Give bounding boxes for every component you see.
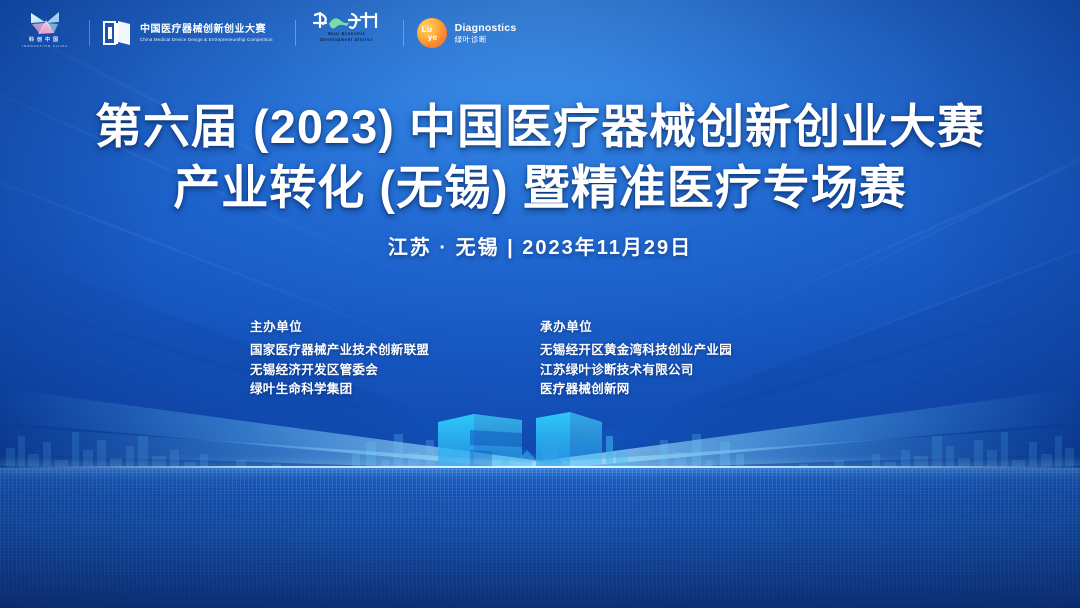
poster-title-block: 第六届 (2023) 中国医疗器械创新创业大赛 产业转化 (无锡) 暨精准医疗专… [0, 96, 1080, 261]
organizers-block: 主办单位 国家医疗器械产业技术创新联盟 无锡经济开发区管委会 绿叶生命科学集团 … [0, 318, 1080, 400]
logo-luye-diagnostics: Lu ye Diagnostics 绿叶诊断 [417, 10, 517, 56]
background-horizon-line [0, 466, 1080, 468]
innovation-china-butterfly-icon [28, 10, 62, 36]
title-line-1: 第六届 (2023) 中国医疗器械创新创业大赛 [0, 96, 1080, 157]
event-location-date: 江苏 · 无锡 | 2023年11月29日 [0, 235, 1080, 261]
host-organizers-heading: 主办单位 [250, 318, 540, 337]
background-ground-grid [0, 467, 1080, 608]
logo-cmdc-cn: 中国医疗器械创新创业大赛 [140, 24, 273, 36]
cohost-organizers-heading: 承办单位 [540, 318, 830, 337]
logo-innovation-china-cn: 科创中国 [29, 37, 61, 43]
logo-cmdc: 中国医疗器械创新创业大赛 China Medical Device Design… [103, 10, 273, 56]
wuxi-calligraphy-icon [311, 10, 383, 30]
logo-innovation-china: 科创中国 INNOVATION CHINA [14, 10, 76, 56]
poster-canvas: 科创中国 INNOVATION CHINA 中国医疗器械创新创业大赛 China… [0, 0, 1080, 608]
cohost-organizer-item: 江苏绿叶诊断技术有限公司 [540, 361, 830, 381]
luye-badge-bottom: ye [428, 33, 437, 42]
sponsor-logo-bar: 科创中国 INNOVATION CHINA 中国医疗器械创新创业大赛 China… [0, 0, 1080, 66]
logo-luye-en: Diagnostics [455, 22, 517, 35]
logo-divider-1 [89, 20, 90, 46]
logo-wuxi-en-line1: Wuxi Economic [328, 31, 366, 36]
cohost-organizers-column: 承办单位 无锡经开区黄金湾科技创业产业园 江苏绿叶诊断技术有限公司 医疗器械创新… [540, 318, 830, 400]
logo-wuxi-en-line2: Development District [320, 37, 373, 42]
luye-badge-icon: Lu ye [417, 18, 447, 48]
logo-divider-3 [403, 20, 404, 46]
logo-luye-cn: 绿叶诊断 [455, 35, 517, 45]
cohost-organizer-item: 无锡经开区黄金湾科技创业产业园 [540, 341, 830, 361]
logo-cmdc-en: China Medical Device Design & Entreprene… [140, 36, 273, 43]
logo-divider-2 [295, 20, 296, 46]
host-organizer-item: 无锡经济开发区管委会 [250, 361, 540, 381]
background-ground [0, 467, 1080, 608]
title-line-2: 产业转化 (无锡) 暨精准医疗专场赛 [0, 157, 1080, 218]
cohost-organizer-item: 医疗器械创新网 [540, 380, 830, 400]
logo-wuxi-economic-development-district: Wuxi Economic Development District [309, 10, 385, 56]
logo-innovation-china-en: INNOVATION CHINA [22, 44, 68, 49]
host-organizer-item: 国家医疗器械产业技术创新联盟 [250, 341, 540, 361]
cmdc-open-book-icon [103, 19, 133, 47]
host-organizers-column: 主办单位 国家医疗器械产业技术创新联盟 无锡经济开发区管委会 绿叶生命科学集团 [250, 318, 540, 400]
host-organizer-item: 绿叶生命科学集团 [250, 380, 540, 400]
